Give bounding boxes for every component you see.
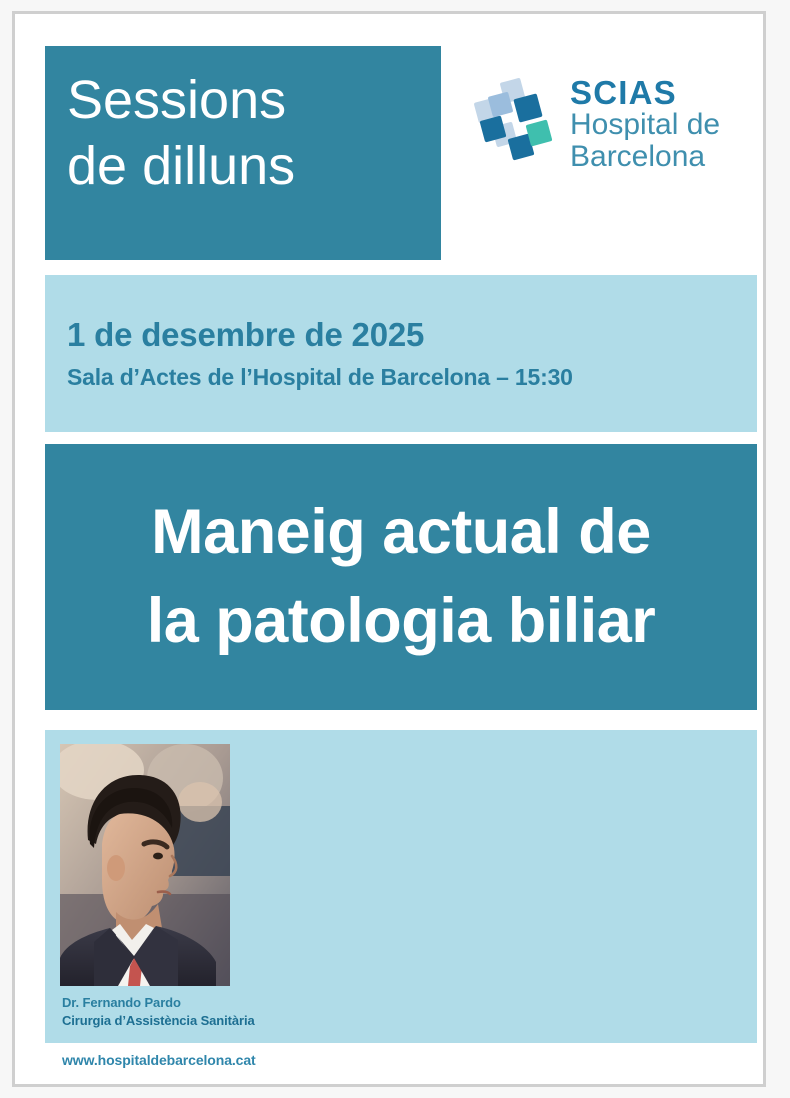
header-line-2: de dilluns [67, 134, 441, 200]
header-line-1: Sessions [67, 68, 441, 134]
poster-page-sheet: Sessions de dilluns [12, 11, 766, 1087]
poster-root: Sessions de dilluns [0, 0, 790, 1098]
event-date: 1 de desembre de 2025 [67, 315, 757, 355]
speaker-portrait-photo [60, 744, 230, 986]
session-title-block: Maneig actual de la patologia biliar [45, 444, 757, 710]
speaker-credit: Dr. Fernando Pardo Cirurgia d’Assistènci… [62, 994, 255, 1029]
event-venue-time: Sala d’Actes de l’Hospital de Barcelona … [67, 362, 757, 393]
poster-header-row: Sessions de dilluns [45, 46, 757, 260]
speaker-role: Cirurgia d’Assistència Sanitària [62, 1012, 255, 1030]
scias-brand-name: SCIAS [570, 76, 720, 109]
event-date-band: 1 de desembre de 2025 Sala d’Actes de l’… [45, 275, 757, 432]
scias-sub-line-2: Barcelona [570, 141, 720, 173]
footer-website-url[interactable]: www.hospitaldebarcelona.cat [62, 1052, 256, 1068]
speaker-panel: Dr. Fernando Pardo Cirurgia d’Assistènci… [45, 730, 757, 1043]
speaker-name: Dr. Fernando Pardo [62, 994, 255, 1012]
session-title-line-2: la patologia biliar [147, 577, 656, 666]
scias-sub-line-1: Hospital de [570, 109, 720, 141]
scias-logo-text: SCIAS Hospital de Barcelona [570, 74, 720, 173]
scias-diamond-mark-icon [472, 78, 556, 164]
session-title-line-1: Maneig actual de [151, 488, 651, 577]
scias-logo: SCIAS Hospital de Barcelona [472, 74, 720, 173]
sessions-header-block: Sessions de dilluns [45, 46, 441, 260]
